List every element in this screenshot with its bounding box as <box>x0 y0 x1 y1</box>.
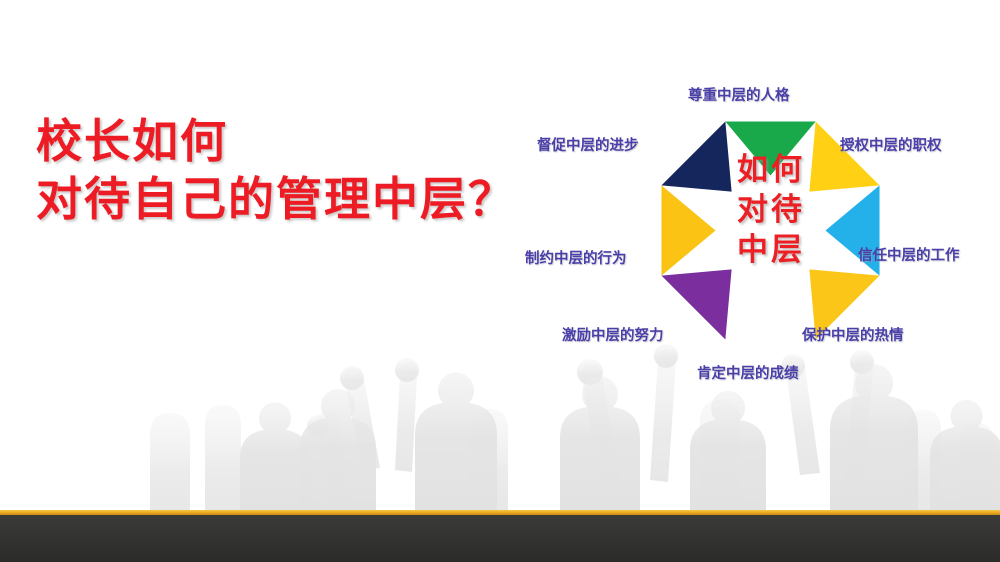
star-point-label-bottom: 肯定中层的成绩 <box>697 365 799 383</box>
star-petal-upper-right <box>809 121 879 191</box>
star-petal-upper-left <box>661 121 731 191</box>
slide-canvas: 校长如何 对待自己的管理中层？ 如何 对待 中层 尊重中层的人格 授权中层的职权… <box>0 0 1000 562</box>
star-petal-left <box>661 185 715 275</box>
footer-bar <box>0 515 1000 562</box>
star-petal-top <box>725 121 815 175</box>
star-diagram: 如何 对待 中层 尊重中层的人格 授权中层的职权 信任中层的工作 保护中层的热情… <box>510 72 1000 402</box>
star-point-label-top: 尊重中层的人格 <box>688 87 790 105</box>
title-line-1: 校长如何 <box>36 112 556 170</box>
star-point-label-upper-right: 授权中层的职权 <box>840 137 942 155</box>
star-point-label-upper-left: 督促中层的进步 <box>537 137 639 155</box>
page-title: 校长如何 对待自己的管理中层？ <box>36 112 556 228</box>
star-point-label-left: 制约中层的行为 <box>525 250 627 268</box>
star-petal-lower-left <box>661 269 731 339</box>
title-line-2: 对待自己的管理中层？ <box>36 170 556 228</box>
star-point-label-lower-right: 保护中层的热情 <box>802 327 904 345</box>
star-point-label-right: 信任中层的工作 <box>858 247 960 265</box>
star-point-label-lower-left: 激励中层的努力 <box>562 327 664 345</box>
